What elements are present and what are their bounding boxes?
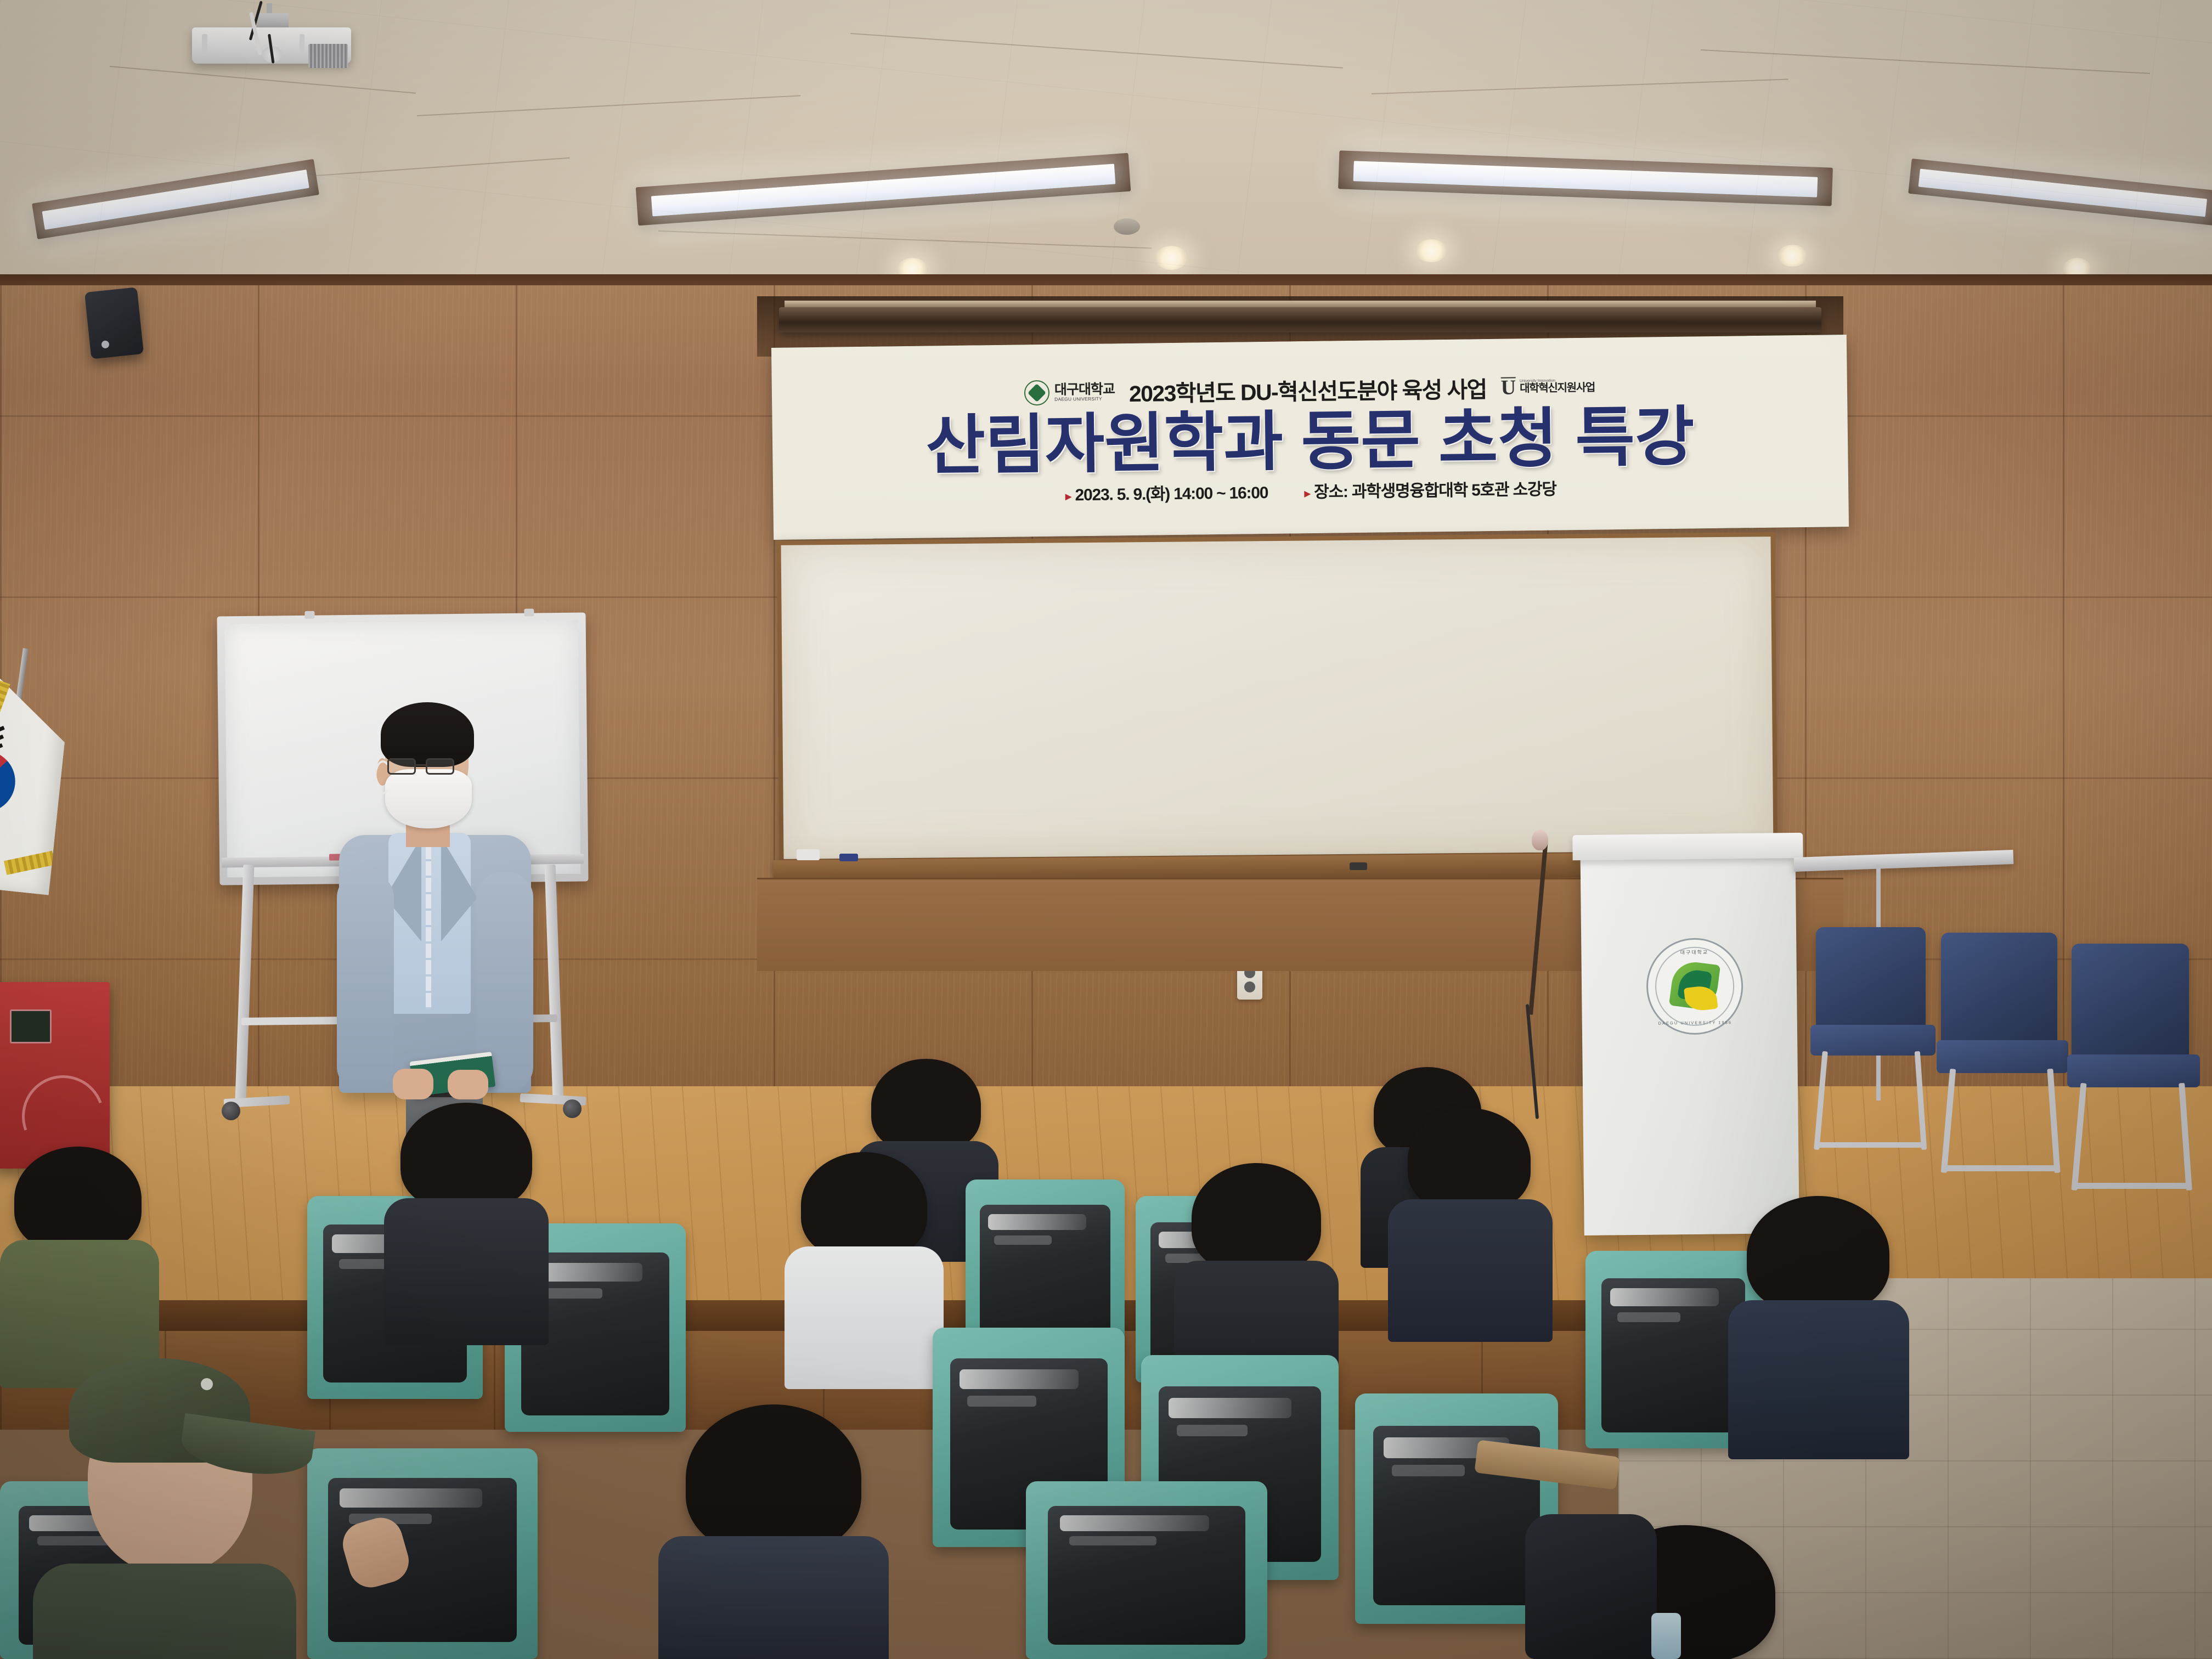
whiteboard-caster-icon (563, 1099, 582, 1118)
microphone-icon (1532, 830, 1548, 850)
du-logo-name-en: DAEGU UNIVERSITY (1054, 396, 1115, 402)
presenter-hand (393, 1069, 433, 1099)
presenter-hand (448, 1070, 488, 1099)
marker-pen-icon (1350, 862, 1367, 870)
bullet-icon: ▸ (1065, 489, 1071, 504)
audience-member (658, 1404, 889, 1659)
backpack-icon (1525, 1514, 1657, 1659)
cap-button-icon (201, 1378, 213, 1390)
whiteboard-eraser-icon (797, 849, 820, 860)
university-innovation-u-mark-icon: U (1500, 377, 1516, 397)
daegu-university-diamond-mark-icon (1024, 380, 1050, 405)
bullet-icon: ▸ (1304, 486, 1310, 501)
wall-speaker-icon (84, 287, 144, 359)
stacking-chair-icon (1937, 933, 2074, 1174)
ceiling-downlight (1155, 246, 1188, 270)
event-banner: 대구대학교 DAEGU UNIVERSITY 2023학년도 DU-혁신선도분야… (771, 335, 1849, 540)
eyeglasses-bridge (416, 764, 427, 766)
du-logo-name-ko: 대구대학교 (1054, 382, 1115, 397)
banner-subtitle: 2023학년도 DU-혁신선도분야 육성 사업 (1129, 371, 1487, 408)
uni-logo-name-ko: 대학혁신지원사업 (1520, 382, 1595, 394)
face-mask-icon (385, 769, 472, 828)
banner-datetime: 2023. 5. 9.(화) 14:00 ~ 16:00 (1075, 484, 1268, 504)
auditorium-seat (307, 1448, 538, 1659)
eyeglasses-icon (387, 758, 416, 775)
smoke-detector-icon (1114, 218, 1140, 235)
lecture-hall-photo: 대구대학교 DAEGU UNIVERSITY 2023학년도 DU-혁신선도분야… (0, 0, 2212, 1659)
ceiling-light-troffer (1338, 150, 1833, 206)
projection-screen-icon (776, 532, 1778, 864)
audience-member (785, 1152, 944, 1383)
audience-member-with-cap (22, 1306, 285, 1659)
presenter-shirt-placket (426, 845, 431, 1009)
marker-pen-icon (839, 854, 858, 861)
seal-bottom-text: DAEGU UNIVERSITY 1956 (1649, 1020, 1742, 1026)
banner-location-item: ▸장소: 과학생명융합대학 5호관 소강당 (1304, 476, 1556, 503)
whiteboard-caster-icon (222, 1102, 240, 1120)
stacking-chair-icon (1810, 927, 1942, 1158)
water-bottle-icon (1651, 1613, 1681, 1659)
stacking-chair-icon (2067, 944, 2204, 1190)
eyeglasses-icon (426, 758, 454, 775)
presenter-hair (381, 702, 474, 767)
audience-member (384, 1103, 549, 1339)
auditorium-seat (1026, 1481, 1267, 1659)
ceiling-light-troffer (1908, 159, 2212, 225)
ceiling-downlight (1778, 245, 1807, 267)
banner-location: 장소: 과학생명융합대학 5호관 소강당 (1314, 481, 1556, 501)
audience-member (1728, 1196, 1909, 1454)
ceiling-light-troffer (32, 159, 319, 240)
presenter (324, 708, 554, 1163)
seal-top-text: 대구대학교 (1647, 948, 1741, 956)
ceiling-projector-icon (192, 15, 351, 66)
curtain-rail (779, 307, 1821, 332)
ceiling-light-troffer (636, 153, 1131, 226)
audience-member (1388, 1108, 1553, 1339)
banner-title: 산림자원학과 동문 초청 특강 (926, 403, 1695, 480)
university-innovation-logo: U University Innovation 대학혁신지원사업 (1500, 376, 1595, 397)
daegu-university-seal-icon: 대구대학교 DAEGU UNIVERSITY 1956 (1646, 938, 1743, 1035)
ceiling-downlight (1415, 239, 1447, 262)
cap-wearer-torso (33, 1564, 296, 1659)
banner-datetime-item: ▸2023. 5. 9.(화) 14:00 ~ 16:00 (1065, 479, 1268, 506)
cabinet-label (10, 1009, 52, 1043)
daegu-university-logo: 대구대학교 DAEGU UNIVERSITY (1024, 379, 1115, 405)
presenter-arm (337, 872, 394, 1092)
lectern-podium: 대구대학교 DAEGU UNIVERSITY 1956 (1572, 833, 1807, 1235)
